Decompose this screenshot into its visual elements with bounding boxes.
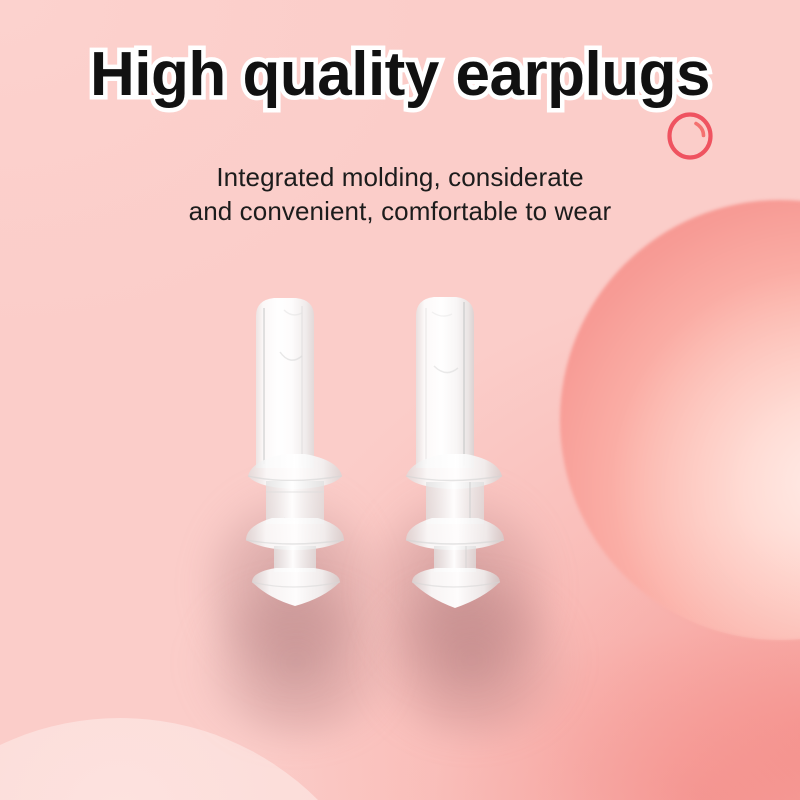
earplug-left-flange-2 (246, 518, 344, 550)
earplug-left-core-1 (266, 481, 324, 524)
product-stage (0, 0, 800, 800)
earplug-right-stem (416, 297, 474, 468)
earplug-right-flange-2 (406, 518, 504, 550)
earplug-right-flange-3 (412, 568, 500, 608)
earplug-right (398, 294, 510, 610)
earplug-right-core-1 (426, 482, 484, 524)
earplug-left (240, 296, 350, 608)
earplug-left-shadow-low (196, 588, 396, 738)
product-promo-poster: High quality earplugs Integrated molding… (0, 0, 800, 800)
